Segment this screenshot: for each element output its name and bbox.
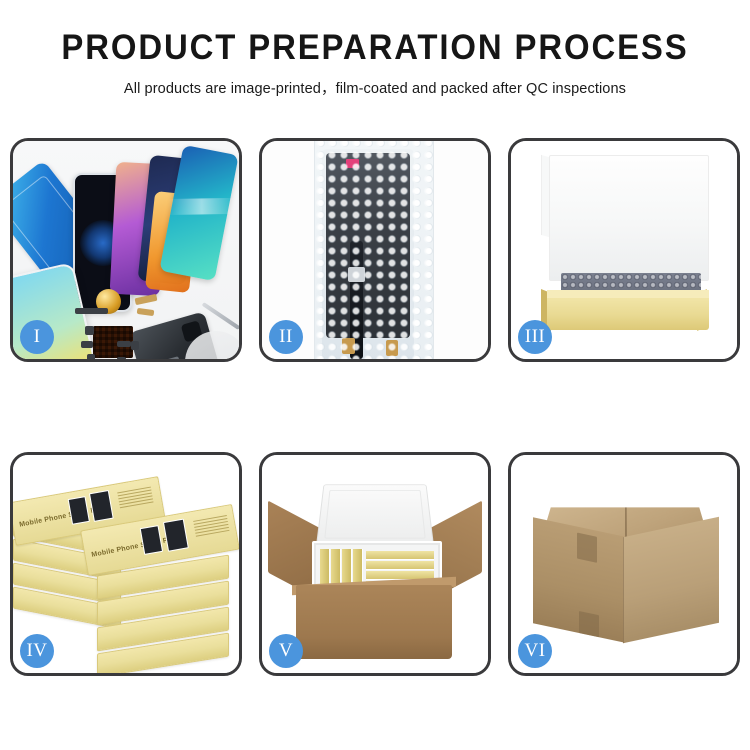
process-step-card-5[interactable]: V [259,452,491,676]
step-badge-3: III [518,320,552,354]
carton-tab-upper [577,533,597,563]
box-spec-lines-b [193,515,230,539]
kraft-box-front [547,296,709,330]
process-step-card-6[interactable]: VI [508,452,740,676]
part-strip [75,308,108,314]
process-step-card-4[interactable]: Mobile Phone Spare Parts Mobile Phone Sp… [10,452,242,676]
bubble-wrap-overlay [314,141,432,359]
carton-tab-lower [579,611,599,637]
tray-box-h2 [366,561,434,570]
box-artwork-phone-b1 [140,525,163,555]
box-spec-lines-a [117,487,154,511]
part-a [85,326,94,335]
process-step-grid: I II [10,138,740,676]
step-badge-5: V [269,634,303,668]
carton-right-face [623,517,719,643]
flex-cable-2 [137,308,155,316]
box-artwork-phone-b2 [163,519,189,552]
process-step-card-1[interactable]: I [10,138,242,362]
step-badge-2: II [269,320,303,354]
product-preparation-infographic: PRODUCT PREPARATION PROCESS All products… [0,0,750,750]
part-c [87,354,95,359]
foam-lid [316,484,434,545]
page-title: PRODUCT PREPARATION PROCESS [23,0,728,67]
tray-box-h1 [366,551,434,560]
box-artwork-phone-a2 [89,490,114,522]
carton-body [296,585,452,659]
page-subtitle: All products are image-printed，film-coat… [11,67,739,98]
battery-strip [145,356,181,359]
step-badge-6: VI [518,634,552,668]
flex-cable-1 [135,294,158,305]
carton-edge-crease [623,537,624,643]
step-badge-1: I [20,320,54,354]
box-front-edge [547,290,709,298]
header: PRODUCT PREPARATION PROCESS All products… [0,0,750,98]
part-f [117,341,131,347]
part-e [117,357,126,359]
part-b [81,341,93,348]
box-lid-panel [549,155,709,281]
box-artwork-phone-a1 [68,496,90,525]
step-badge-4: IV [20,634,54,668]
carton-left-face [533,517,625,643]
process-step-card-3[interactable]: III [508,138,740,362]
part-g [131,341,139,350]
phone-notch [92,175,114,180]
process-step-card-2[interactable]: II [259,138,491,362]
